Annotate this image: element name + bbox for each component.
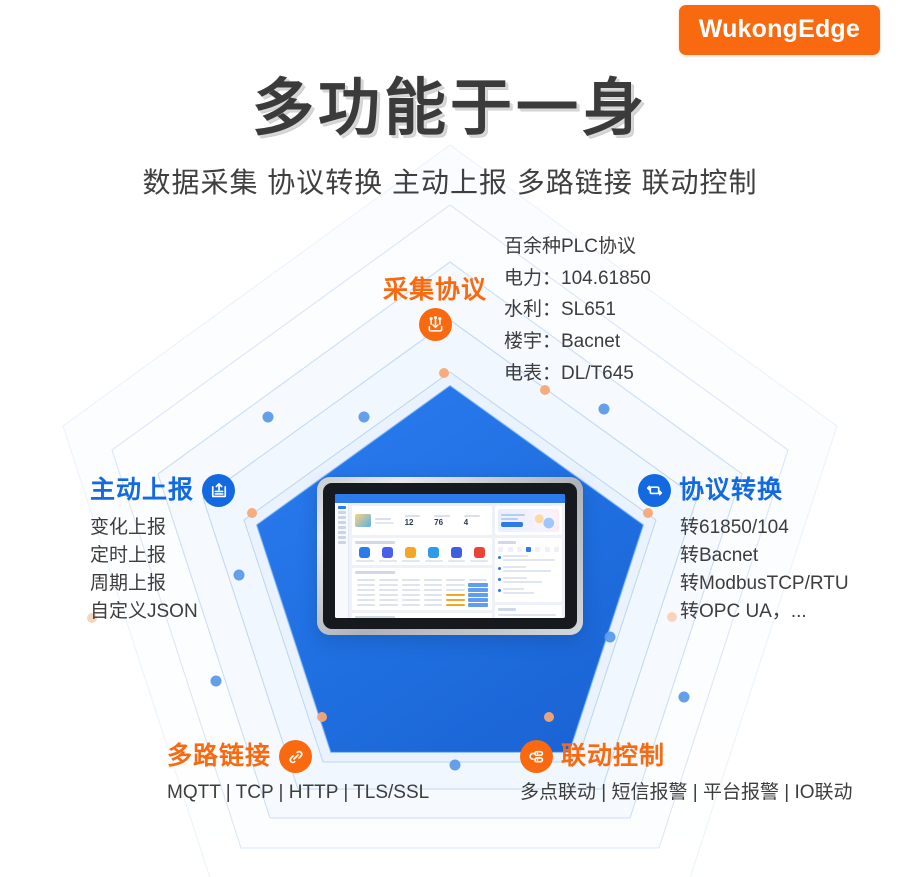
node-collect-protocol: 采集协议 bbox=[383, 278, 487, 341]
node-active-report: 主动上报 变化上报 定时上报 周期上报 自定义JSON bbox=[90, 474, 235, 626]
node-report-item: 变化上报 bbox=[90, 514, 235, 542]
kpi-value: 12 bbox=[405, 519, 431, 527]
sidebar-icon bbox=[338, 536, 346, 539]
node-convert-item: 转61850/104 bbox=[680, 514, 849, 542]
data-collect-icon bbox=[419, 308, 452, 341]
sidebar-icon bbox=[338, 531, 346, 534]
link-icon bbox=[279, 740, 312, 773]
kpi-item bbox=[375, 518, 401, 524]
page-title: 多功能于一身 bbox=[0, 78, 900, 140]
node-collect-item: 电力：104.61850 bbox=[504, 263, 651, 295]
node-collect-title: 采集协议 bbox=[383, 278, 487, 303]
tablet-bezel: 12 76 4 bbox=[323, 483, 577, 629]
page-subtitle: 数据采集 协议转换 主动上报 多路链接 联动控制 bbox=[0, 165, 900, 201]
screen-topbar bbox=[335, 494, 565, 503]
app-shortcut bbox=[355, 547, 375, 562]
sidebar-icon bbox=[338, 516, 346, 519]
node-report-item: 自定义JSON bbox=[90, 598, 235, 626]
node-multi-link: 多路链接 MQTT | TCP | HTTP | TLS/SSL bbox=[167, 740, 429, 807]
node-report-title: 主动上报 bbox=[90, 478, 194, 503]
node-collect-item: 电表：DL/T645 bbox=[504, 358, 651, 390]
data-table-card bbox=[352, 568, 492, 610]
status-apps-card bbox=[352, 613, 492, 618]
screen-right-column bbox=[495, 506, 562, 615]
table-row bbox=[355, 602, 489, 607]
node-linkage-control: 联动控制 多点联动 | 短信报警 | 平台报警 | IO联动 bbox=[520, 740, 853, 807]
node-collect-item: 水利：SL651 bbox=[504, 294, 651, 326]
sidebar-icon bbox=[338, 541, 346, 544]
app-shortcut bbox=[401, 547, 421, 562]
node-report-item: 定时上报 bbox=[90, 542, 235, 570]
sidebar-icon bbox=[338, 521, 346, 524]
app-shortcut bbox=[469, 547, 489, 562]
node-control-title: 联动控制 bbox=[561, 744, 665, 769]
alerts-card bbox=[495, 605, 562, 618]
upload-icon bbox=[202, 474, 235, 507]
node-report-item: 周期上报 bbox=[90, 570, 235, 598]
sidebar-icon bbox=[338, 511, 346, 514]
sidebar-icon bbox=[338, 526, 346, 529]
node-convert-title: 协议转换 bbox=[679, 478, 783, 503]
calendar-card bbox=[495, 538, 562, 602]
node-convert-items: 转61850/104 转Bacnet 转ModbusTCP/RTU 转OPC U… bbox=[680, 514, 849, 626]
kpi-value: 76 bbox=[434, 519, 460, 527]
node-collect-item: 楼宇：Bacnet bbox=[504, 326, 651, 358]
node-convert-item: 转OPC UA，... bbox=[680, 598, 849, 626]
kpi-card: 12 76 4 bbox=[352, 506, 492, 535]
node-convert-item: 转Bacnet bbox=[680, 542, 849, 570]
poster-canvas: WukongEdge 多功能于一身 数据采集 协议转换 主动上报 多路链接 联动… bbox=[0, 0, 900, 877]
promo-illustration bbox=[532, 512, 556, 529]
app-shortcut bbox=[424, 547, 444, 562]
brand-badge: WukongEdge bbox=[679, 5, 880, 55]
screen-main: 12 76 4 bbox=[349, 503, 565, 618]
weather-icon bbox=[355, 514, 371, 527]
data-table bbox=[355, 577, 489, 607]
screen-left-column: 12 76 4 bbox=[352, 506, 492, 615]
node-convert-item: 转ModbusTCP/RTU bbox=[680, 570, 849, 598]
kpi-item: 4 bbox=[464, 515, 490, 527]
protocol-convert-icon bbox=[638, 474, 671, 507]
kpi-value: 4 bbox=[464, 519, 490, 527]
node-collect-items: 百余种PLC协议 电力：104.61850 水利：SL651 楼宇：Bacnet… bbox=[504, 231, 651, 390]
screen-body: 12 76 4 bbox=[335, 503, 565, 618]
node-collect-item: 百余种PLC协议 bbox=[504, 231, 651, 263]
node-protocol-convert: 协议转换 转61850/104 转Bacnet 转ModbusTCP/RTU 转… bbox=[638, 474, 849, 626]
node-report-items: 变化上报 定时上报 周期上报 自定义JSON bbox=[90, 514, 235, 626]
app-shortcut bbox=[447, 547, 467, 562]
app-shortcut bbox=[378, 547, 398, 562]
tablet-device: 12 76 4 bbox=[317, 477, 583, 635]
screen-sidebar bbox=[335, 503, 349, 618]
node-link-title: 多路链接 bbox=[167, 744, 271, 769]
node-link-items: MQTT | TCP | HTTP | TLS/SSL bbox=[167, 780, 429, 807]
node-control-items: 多点联动 | 短信报警 | 平台报警 | IO联动 bbox=[520, 780, 853, 807]
kpi-item: 12 bbox=[405, 515, 431, 527]
app-shortcuts-card bbox=[352, 538, 492, 565]
promo-banner-card bbox=[495, 506, 562, 535]
kpi-item: 76 bbox=[434, 515, 460, 527]
linkage-control-icon bbox=[520, 740, 553, 773]
sidebar-icon bbox=[338, 506, 346, 509]
dashboard-screen: 12 76 4 bbox=[335, 494, 565, 618]
